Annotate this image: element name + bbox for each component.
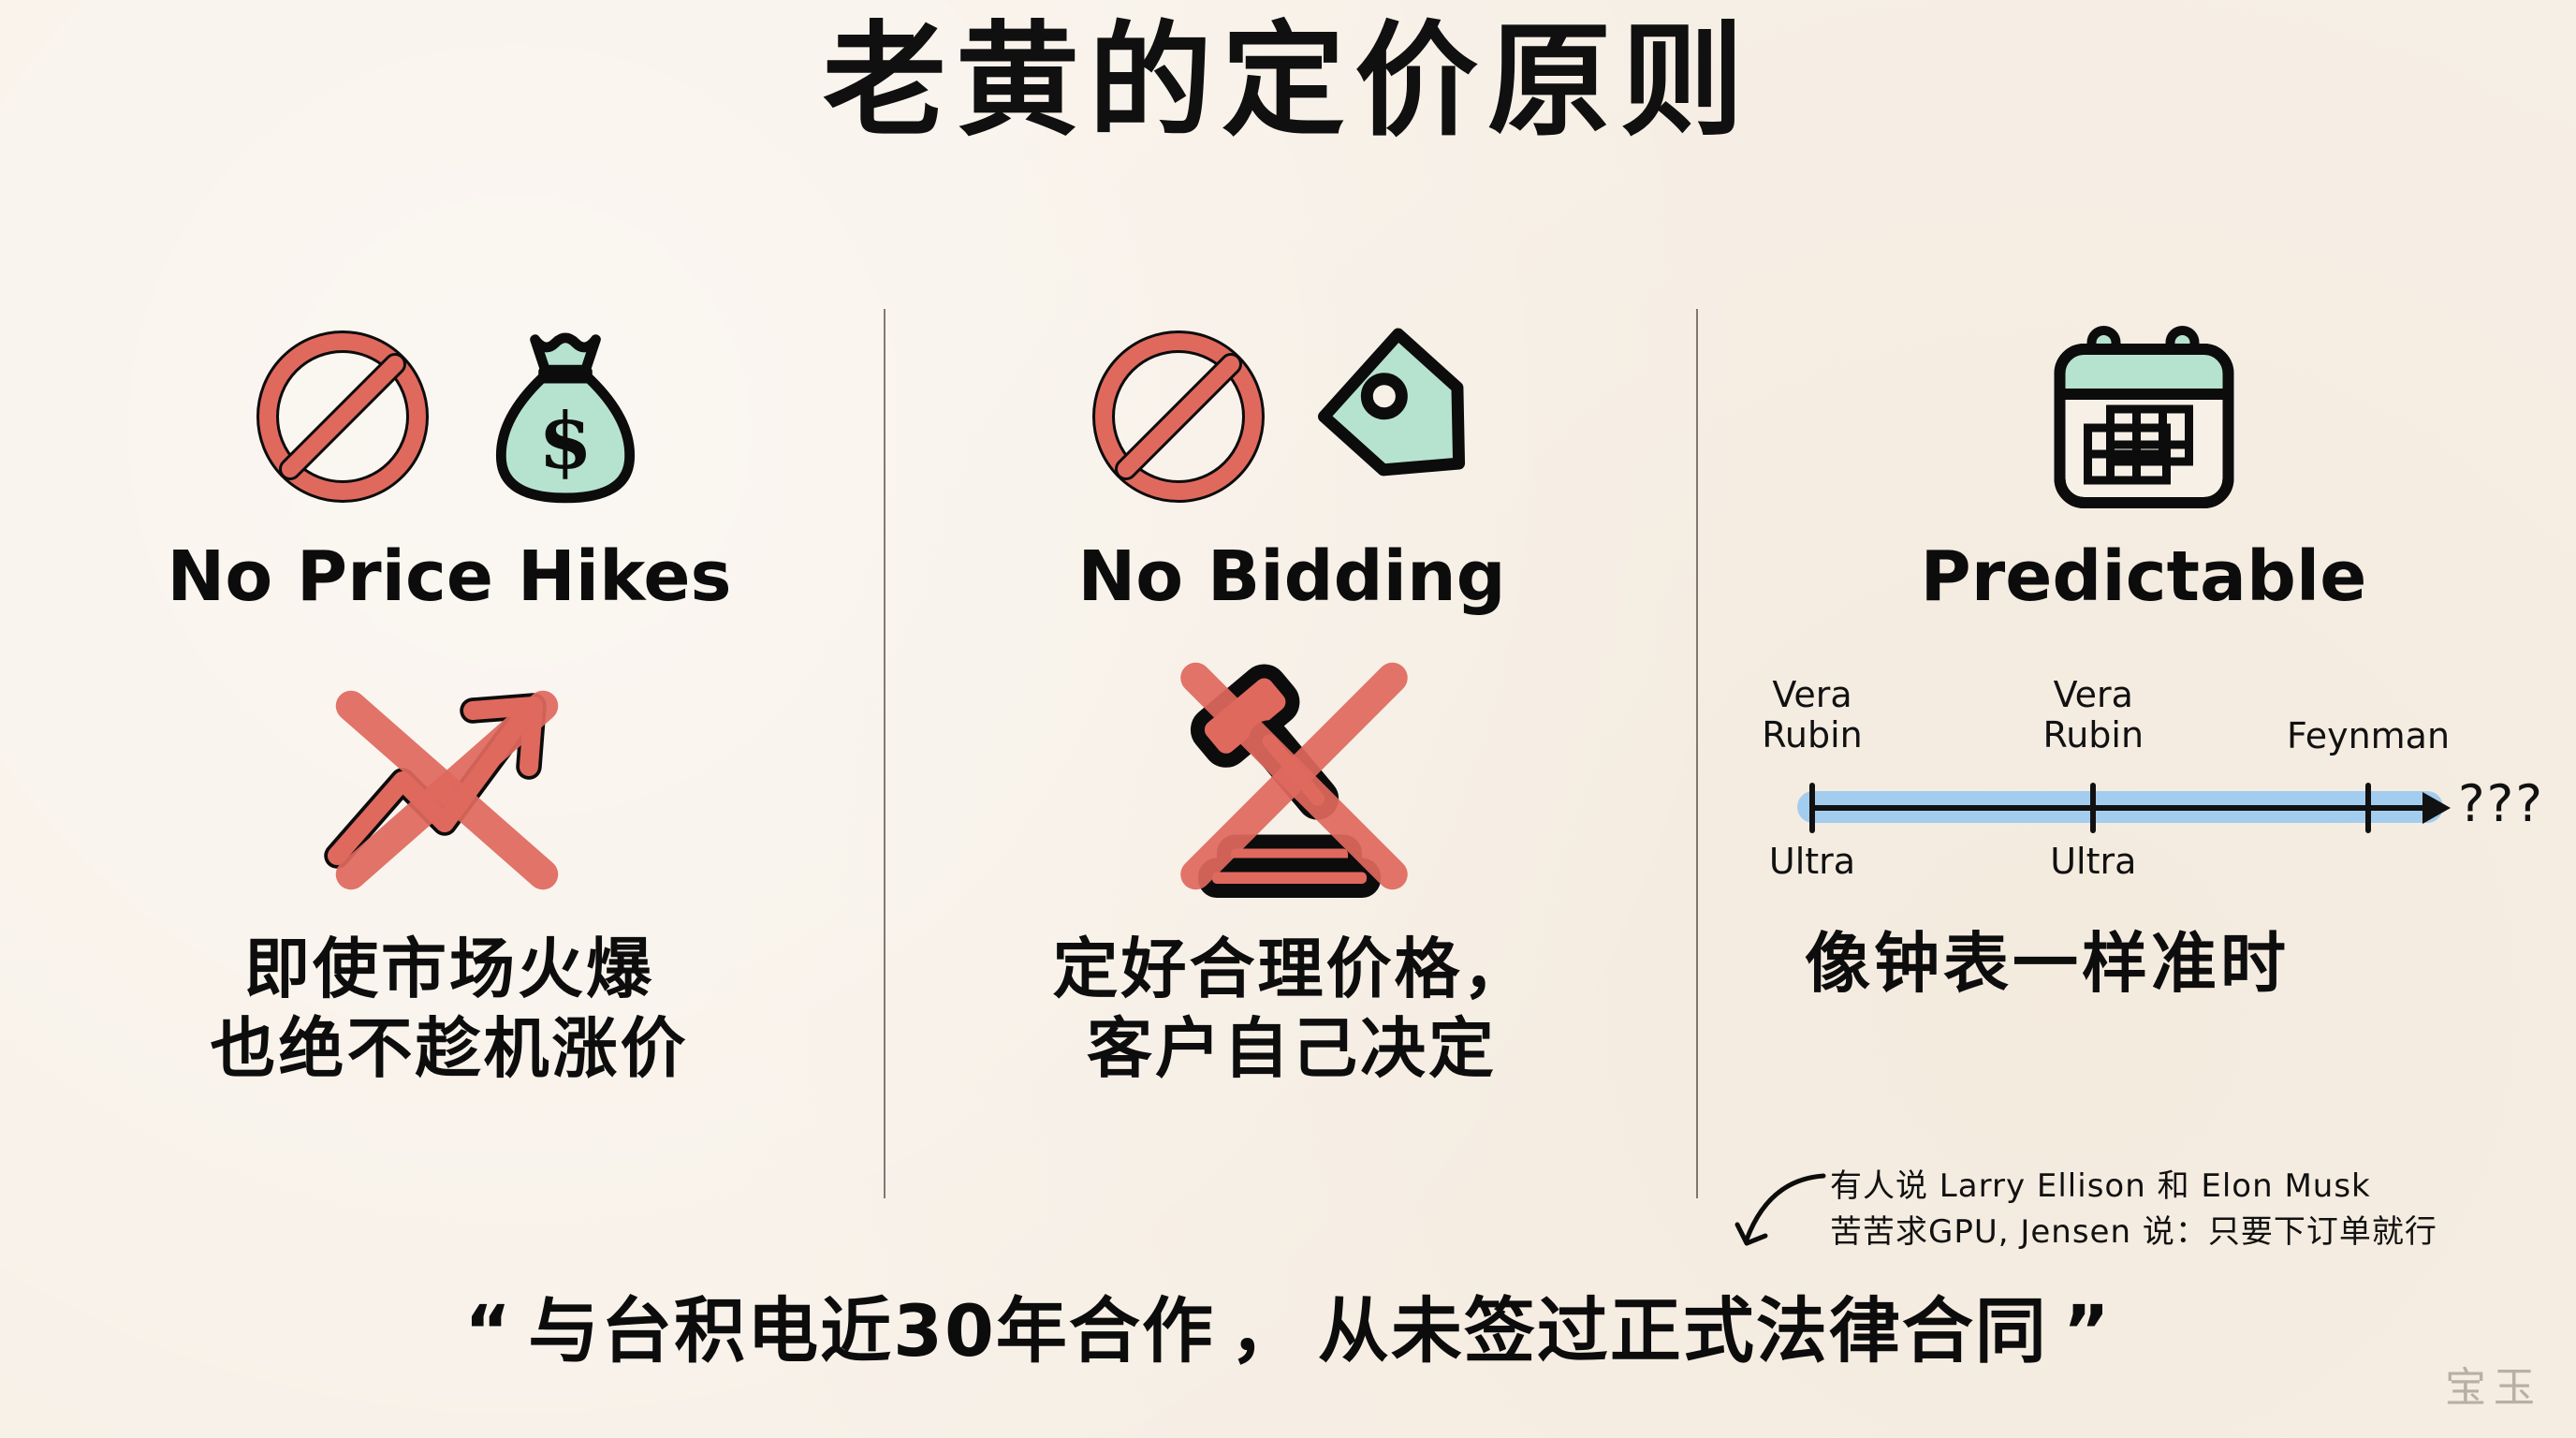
bottom-quote: “与台积电近30年合作，从未签过正式法律合同” — [0, 1269, 2576, 1384]
quote-close-mark: ” — [2063, 1289, 2112, 1372]
roadmap-timeline: Vera Rubin Ultra Vera Rubin Ultra Feynma… — [1732, 658, 2555, 902]
quote-open-mark: “ — [464, 1289, 513, 1372]
timeline-tick-0 — [1809, 783, 1815, 833]
label-wrap-3: Predictable — [1732, 532, 2555, 626]
caption-2-line-1: 定好合理价格， — [917, 930, 1666, 1009]
no-entry-icon — [249, 323, 436, 510]
illustration-1 — [37, 645, 861, 907]
icon-row-3 — [1732, 309, 2555, 524]
footnote-line-2: 苦苦求GPU, Jensen 说：只要下订单就行 — [1830, 1210, 2437, 1255]
timeline-label-below-1: Ultra — [2050, 842, 2136, 882]
column-predictable: Predictable Vera Rubin Ultra Vera Rubin … — [1732, 309, 2555, 1004]
quote-segment-1: 与台积电近30年合作 — [513, 1269, 1230, 1384]
timeline-end-label: ??? — [2458, 774, 2544, 833]
timeline-tick-1 — [2090, 783, 2096, 833]
caption-3-line-1: 像钟表一样准时 — [1805, 924, 2555, 1004]
timeline-label-above-1: Vera Rubin — [2043, 675, 2144, 755]
label-wrap-2: No Bidding — [917, 532, 1666, 626]
curved-arrow-icon — [1730, 1170, 1833, 1255]
column-divider-2 — [1696, 309, 1698, 1198]
footnote-line-1: 有人说 Larry Ellison 和 Elon Musk — [1830, 1164, 2437, 1210]
footnote-text: 有人说 Larry Ellison 和 Elon Musk 苦苦求GPU, Je… — [1830, 1164, 2437, 1256]
icon-row-1: $ — [37, 309, 861, 524]
money-bag-icon: $ — [481, 326, 650, 508]
caption-1: 即使市场火爆 也绝不趁机涨价 — [37, 930, 861, 1090]
timeline-arrowhead-icon — [2422, 792, 2451, 824]
svg-text:$: $ — [538, 394, 593, 486]
highlight-label-no-price-hikes: No Price Hikes — [139, 532, 759, 626]
quote-separator: ， — [1230, 1289, 1303, 1372]
highlight-label-no-bidding: No Bidding — [1049, 532, 1533, 626]
caption-1-line-1: 即使市场火爆 — [37, 930, 861, 1009]
infographic-poster: 老黄的定价原则 $ — [0, 0, 2576, 1438]
icon-row-2 — [917, 309, 1666, 524]
timeline-axis — [1812, 805, 2430, 811]
column-divider-1 — [884, 309, 885, 1198]
watermark: 宝玉 — [2445, 1354, 2542, 1414]
column-no-price-hikes: $ No Price Hikes — [37, 309, 861, 1090]
timeline-label-above-0: Vera Rubin — [1762, 675, 1863, 755]
page-title: 老黄的定价原则 — [0, 17, 2576, 147]
no-entry-icon — [1085, 323, 1272, 510]
timeline-tick-2 — [2365, 783, 2371, 833]
caption-3: 像钟表一样准时 — [1732, 924, 2555, 1004]
timeline-label-above-2: Feynman — [2287, 716, 2450, 756]
caption-2: 定好合理价格， 客户自己决定 — [917, 930, 1666, 1090]
quote-segment-2: 从未签过正式法律合同 — [1303, 1269, 2063, 1384]
timeline-label-below-0: Ultra — [1769, 842, 1855, 882]
crossed-out-gavel-icon — [1161, 659, 1423, 893]
caption-1-line-2: 也绝不趁机涨价 — [37, 1009, 861, 1089]
price-tag-icon — [1317, 330, 1500, 504]
calendar-icon — [2043, 323, 2245, 510]
crossed-out-rising-arrow-icon — [309, 659, 590, 893]
column-no-bidding: No Bidding — [917, 309, 1666, 1090]
label-wrap-1: No Price Hikes — [37, 532, 861, 626]
caption-2-line-2: 客户自己决定 — [917, 1009, 1666, 1089]
illustration-2 — [917, 645, 1666, 907]
highlight-label-predictable: Predictable — [1893, 532, 2395, 626]
